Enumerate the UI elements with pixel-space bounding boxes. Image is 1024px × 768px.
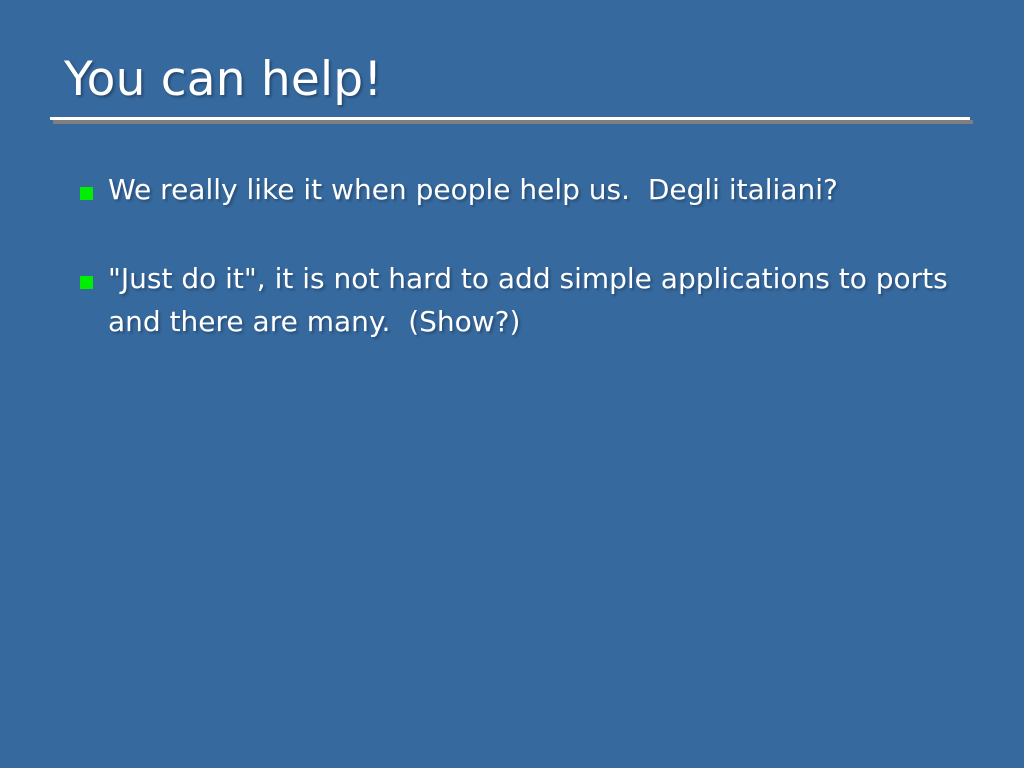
title-divider-shadow: [53, 120, 973, 124]
list-item-text: We really like it when people help us. D…: [108, 168, 964, 211]
list-item-text: "Just do it", it is not hard to add simp…: [108, 257, 964, 343]
list-item: "Just do it", it is not hard to add simp…: [64, 257, 964, 343]
page-title: You can help!: [64, 49, 970, 111]
green-square-bullet-icon: [80, 187, 93, 200]
presentation-slide: You can help! We really like it when peo…: [0, 0, 1024, 768]
list-item: We really like it when people help us. D…: [64, 168, 964, 211]
title-divider: [50, 117, 970, 120]
green-square-bullet-icon: [80, 276, 93, 289]
bullet-list: We really like it when people help us. D…: [64, 168, 964, 343]
